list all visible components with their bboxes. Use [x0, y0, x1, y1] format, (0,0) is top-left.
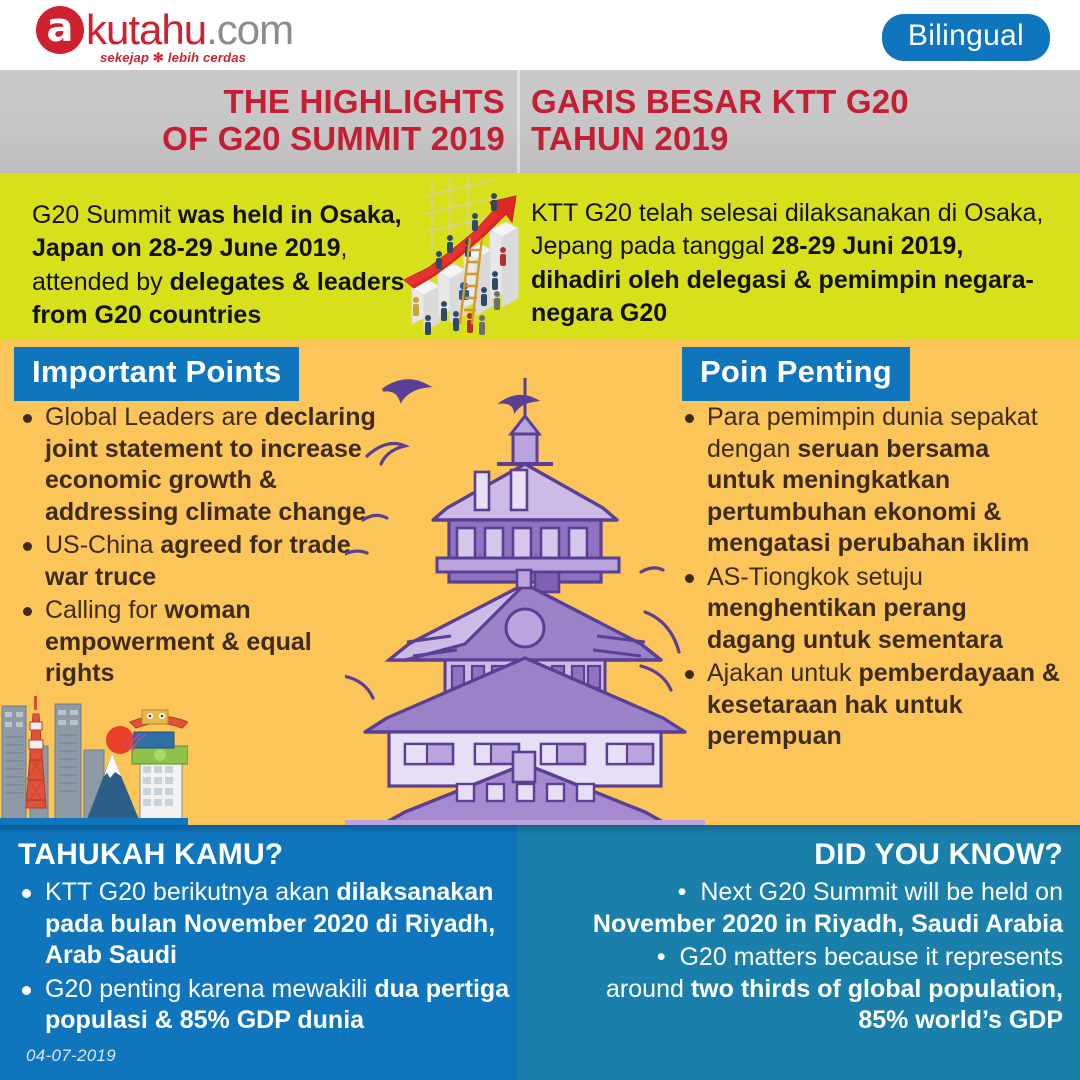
- list-item: Next G20 Summit will be held on November…: [583, 877, 1063, 940]
- intro-text-indonesian: KTT G20 telah selesai dilaksanakan di Os…: [531, 197, 1051, 330]
- logo-word-red: kutahu: [86, 6, 206, 53]
- infographic-page: a kutahu.com sekejap ✻ lebih cerdas Bili…: [0, 0, 1080, 1080]
- list-item: AS-Tiongkok setuju menghentikan perang d…: [680, 562, 1062, 657]
- page-header: a kutahu.com sekejap ✻ lebih cerdas Bili…: [0, 0, 1080, 70]
- logo-wordmark: kutahu.com sekejap ✻ lebih cerdas: [86, 6, 293, 54]
- tokyo-skyline-illustration: [0, 692, 188, 825]
- list-item: G20 matters because it represents around…: [583, 942, 1063, 1037]
- title-band: THE HIGHLIGHTS OF G20 SUMMIT 2019 GARIS …: [0, 70, 1080, 173]
- osaka-castle-illustration: [345, 360, 705, 825]
- growth-chart-illustration: [398, 176, 530, 336]
- title-english-line1: THE HIGHLIGHTS: [0, 84, 505, 121]
- title-english: THE HIGHLIGHTS OF G20 SUMMIT 2019: [0, 84, 505, 158]
- site-logo[interactable]: a kutahu.com sekejap ✻ lebih cerdas: [36, 6, 293, 64]
- intro-band: G20 Summit was held in Osaka, Japan on 2…: [0, 173, 1080, 339]
- date-stamp: 04-07-2019: [26, 1046, 116, 1066]
- title-english-line2: OF G20 SUMMIT 2019: [0, 121, 505, 158]
- logo-mark-icon: a: [36, 6, 84, 54]
- points-list-indonesian: Para pemimpin dunia sepakat dengan serua…: [680, 402, 1062, 755]
- title-band-divider: [517, 70, 520, 173]
- list-item: Global Leaders are declaring joint state…: [18, 402, 378, 528]
- logo-tagline-part1: sekejap: [100, 50, 149, 65]
- leaf-icon: ✻: [153, 50, 164, 65]
- list-item: KTT G20 berikutnya akan dilaksanakan pad…: [18, 877, 553, 972]
- logo-tagline: sekejap ✻ lebih cerdas: [100, 50, 246, 66]
- section-top-shadow: [0, 825, 1080, 834]
- section-label-poin-penting: Poin Penting: [682, 347, 910, 401]
- did-you-know-list-english: Next G20 Summit will be held on November…: [583, 877, 1063, 1039]
- list-item: US-China agreed for trade war truce: [18, 530, 378, 593]
- logo-word-gray: .com: [206, 6, 293, 53]
- logo-tagline-part2: lebih cerdas: [168, 50, 246, 65]
- title-indonesian-line2: TAHUN 2019: [531, 121, 1071, 158]
- list-item: Para pemimpin dunia sepakat dengan serua…: [680, 402, 1062, 560]
- did-you-know-list-indonesian: KTT G20 berikutnya akan dilaksanakan pad…: [18, 877, 553, 1039]
- title-indonesian: GARIS BESAR KTT G20 TAHUN 2019: [531, 84, 1071, 158]
- intro-text-english: G20 Summit was held in Osaka, Japan on 2…: [32, 199, 422, 332]
- title-indonesian-line1: GARIS BESAR KTT G20: [531, 84, 1071, 121]
- did-you-know-title: DID YOU KNOW?: [814, 838, 1063, 872]
- points-list-english: Global Leaders are declaring joint state…: [18, 402, 378, 692]
- list-item: G20 penting karena mewakili dua pertiga …: [18, 974, 553, 1037]
- bilingual-badge[interactable]: Bilingual: [882, 14, 1050, 61]
- section-label-important-points: Important Points: [14, 347, 299, 401]
- list-item: Ajakan untuk pemberdayaan & kesetaraan h…: [680, 658, 1062, 753]
- list-item: Calling for woman empowerment & equal ri…: [18, 595, 378, 690]
- did-you-know-section: DID YOU KNOW? TAHUKAH KAMU? Next G20 Sum…: [0, 825, 1080, 1080]
- tahukah-kamu-title: TAHUKAH KAMU?: [18, 838, 283, 872]
